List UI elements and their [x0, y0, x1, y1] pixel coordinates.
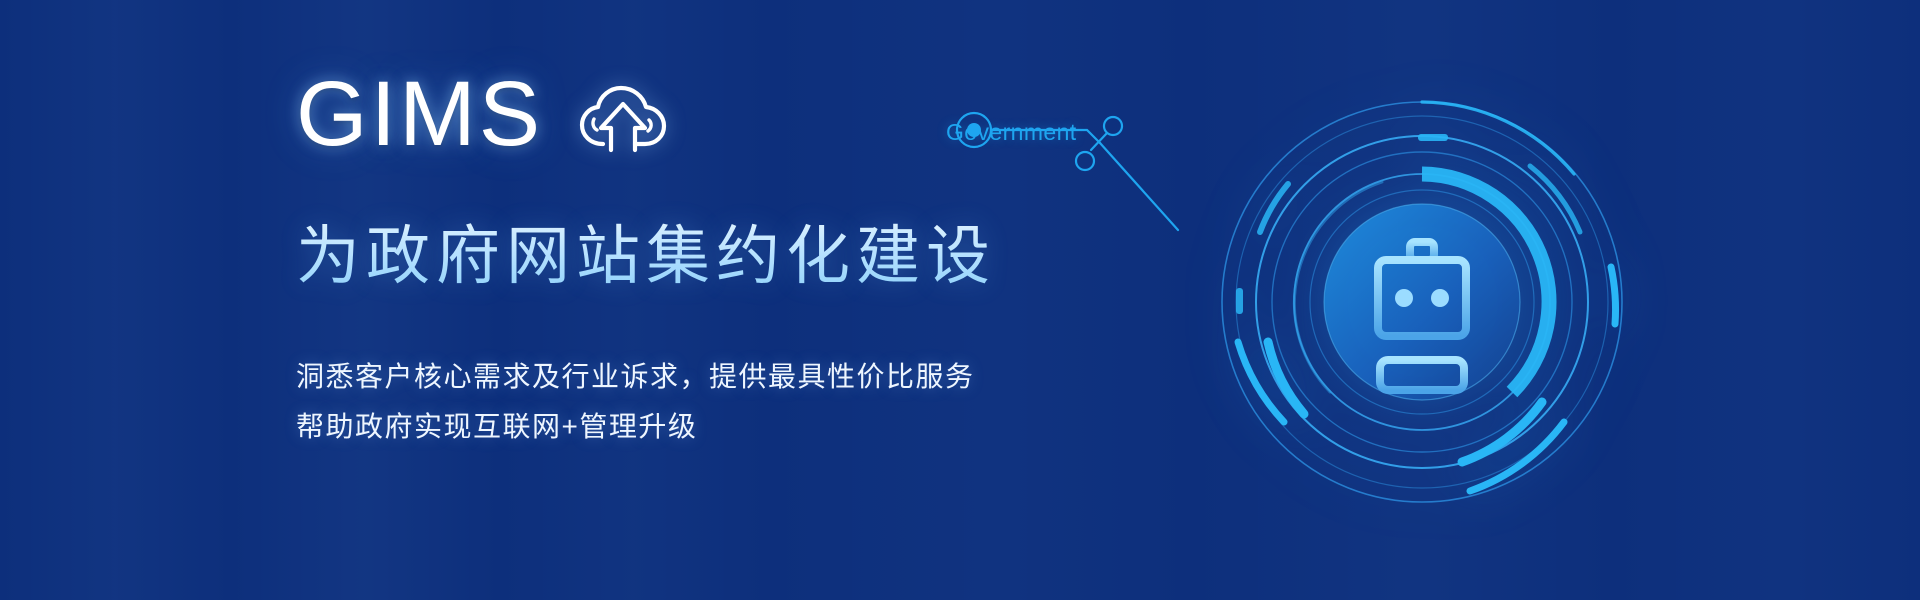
tech-ring-icon [1212, 92, 1632, 512]
subtitle-line-1: 洞悉客户核心需求及行业诉求，提供最具性价比服务 [296, 352, 1116, 402]
hero-banner: GIMS 为政府网站集约化建设 洞悉客户核心需求及行业诉求，提供最具性价比服务 … [0, 0, 1920, 600]
page-title: GIMS [296, 62, 543, 166]
brand-row: GIMS [296, 62, 1116, 166]
subtitle-line-2: 帮助政府实现互联网+管理升级 [296, 402, 1116, 452]
subtitle-group: 洞悉客户核心需求及行业诉求，提供最具性价比服务 帮助政府实现互联网+管理升级 [296, 352, 1116, 452]
government-label: Government [946, 119, 1077, 145]
robot-eye-right-icon [1431, 289, 1449, 307]
robot-eye-left-icon [1395, 289, 1413, 307]
cloud-upload-icon [577, 84, 669, 154]
headline: 为政府网站集约化建设 [296, 218, 1116, 294]
